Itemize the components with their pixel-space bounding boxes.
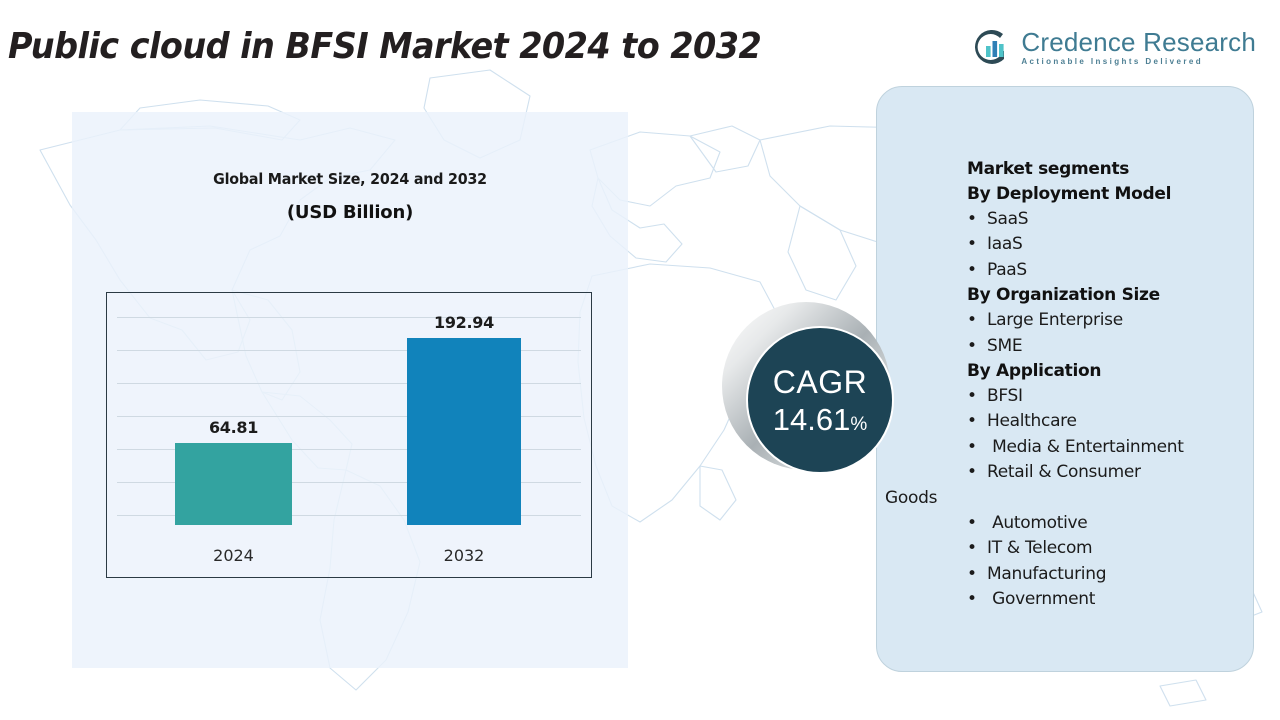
segment-item-media-entertainment: • Media & Entertainment bbox=[967, 435, 1247, 460]
segments-title: Market segments bbox=[967, 157, 1247, 182]
segment-item-saas: •SaaS bbox=[967, 207, 1247, 232]
chart-plot-area: 64.81 2024 192.94 2032 bbox=[106, 292, 592, 578]
bullet-icon: • bbox=[967, 207, 987, 232]
bullet-icon: • bbox=[967, 384, 987, 409]
segment-item-label: BFSI bbox=[987, 386, 1023, 406]
segment-group-heading-deployment-model: By Deployment Model bbox=[967, 182, 1247, 207]
chart-panel: Global Market Size, 2024 and 2032 (USD B… bbox=[72, 112, 628, 668]
bullet-icon: • bbox=[967, 460, 987, 485]
segment-item-retail-consumer-goods-wrap: Goods bbox=[885, 486, 1247, 511]
bullet-icon: • bbox=[967, 511, 987, 536]
segment-item-label: IT & Telecom bbox=[987, 538, 1092, 558]
segment-item-retail-consumer-goods: •Retail & Consumer bbox=[967, 460, 1247, 485]
chart-title: Global Market Size, 2024 and 2032 bbox=[86, 170, 614, 188]
cagr-value-row: 14.61 % bbox=[773, 404, 867, 435]
bar-2024[interactable] bbox=[175, 443, 292, 525]
cagr-badge: CAGR 14.61 % bbox=[718, 300, 908, 490]
segment-group-heading-organization-size: By Organization Size bbox=[967, 283, 1247, 308]
brand-name: Credence Research bbox=[1021, 29, 1256, 55]
segment-item-bfsi: •BFSI bbox=[967, 384, 1247, 409]
segment-item-label: Manufacturing bbox=[987, 564, 1106, 584]
segment-item-label: Large Enterprise bbox=[987, 310, 1123, 330]
brand-tagline: Actionable Insights Delivered bbox=[1021, 58, 1256, 66]
chart-subtitle: (USD Billion) bbox=[72, 202, 628, 223]
segment-item-label: Government bbox=[987, 589, 1095, 609]
bar-2032[interactable] bbox=[407, 338, 521, 525]
brand-logo: Credence Research Actionable Insights De… bbox=[971, 23, 1256, 71]
bullet-icon: • bbox=[967, 334, 987, 359]
cagr-circle: CAGR 14.61 % bbox=[746, 326, 894, 474]
segment-item-it-telecom: •IT & Telecom bbox=[967, 536, 1247, 561]
cagr-value: 14.61 bbox=[773, 404, 851, 435]
market-segments-list: Market segments By Deployment Model •Saa… bbox=[967, 157, 1247, 613]
market-segments-panel: Market segments By Deployment Model •Saa… bbox=[876, 86, 1254, 672]
cagr-label: CAGR bbox=[773, 366, 867, 398]
segment-group-heading-application: By Application bbox=[967, 359, 1247, 384]
segment-item-label: SME bbox=[987, 336, 1022, 356]
segment-item-label: Automotive bbox=[987, 513, 1087, 533]
segment-item-label: PaaS bbox=[987, 260, 1027, 280]
cagr-percent-sign: % bbox=[850, 415, 867, 434]
bar-value-2032: 192.94 bbox=[407, 313, 521, 332]
bar-value-2024: 64.81 bbox=[175, 418, 292, 437]
bar-category-2024: 2024 bbox=[175, 546, 292, 565]
segment-item-label: Goods bbox=[885, 488, 937, 508]
segment-item-label: Healthcare bbox=[987, 411, 1077, 431]
segment-item-manufacturing: •Manufacturing bbox=[967, 562, 1247, 587]
bullet-icon: • bbox=[967, 409, 987, 434]
bullet-icon: • bbox=[967, 232, 987, 257]
bullet-icon: • bbox=[967, 536, 987, 561]
bullet-icon: • bbox=[967, 258, 987, 283]
bullet-icon: • bbox=[967, 587, 987, 612]
page-title: Public cloud in BFSI Market 2024 to 2032 bbox=[8, 26, 761, 67]
bar-chart-circle-logo-icon bbox=[971, 27, 1011, 67]
segment-item-paas: •PaaS bbox=[967, 258, 1247, 283]
segment-item-label: Media & Entertainment bbox=[987, 437, 1184, 457]
bullet-icon: • bbox=[967, 308, 987, 333]
segment-item-iaas: •IaaS bbox=[967, 232, 1247, 257]
segment-item-label: IaaS bbox=[987, 234, 1022, 254]
segment-item-automotive: • Automotive bbox=[967, 511, 1247, 536]
segment-item-government: • Government bbox=[967, 587, 1247, 612]
segment-item-sme: •SME bbox=[967, 334, 1247, 359]
segment-item-large-enterprise: •Large Enterprise bbox=[967, 308, 1247, 333]
bullet-icon: • bbox=[967, 562, 987, 587]
bullet-icon: • bbox=[967, 435, 987, 460]
segment-item-label: SaaS bbox=[987, 209, 1028, 229]
segment-item-label: Retail & Consumer bbox=[987, 462, 1141, 482]
bar-category-2032: 2032 bbox=[407, 546, 521, 565]
segment-item-healthcare: •Healthcare bbox=[967, 409, 1247, 434]
